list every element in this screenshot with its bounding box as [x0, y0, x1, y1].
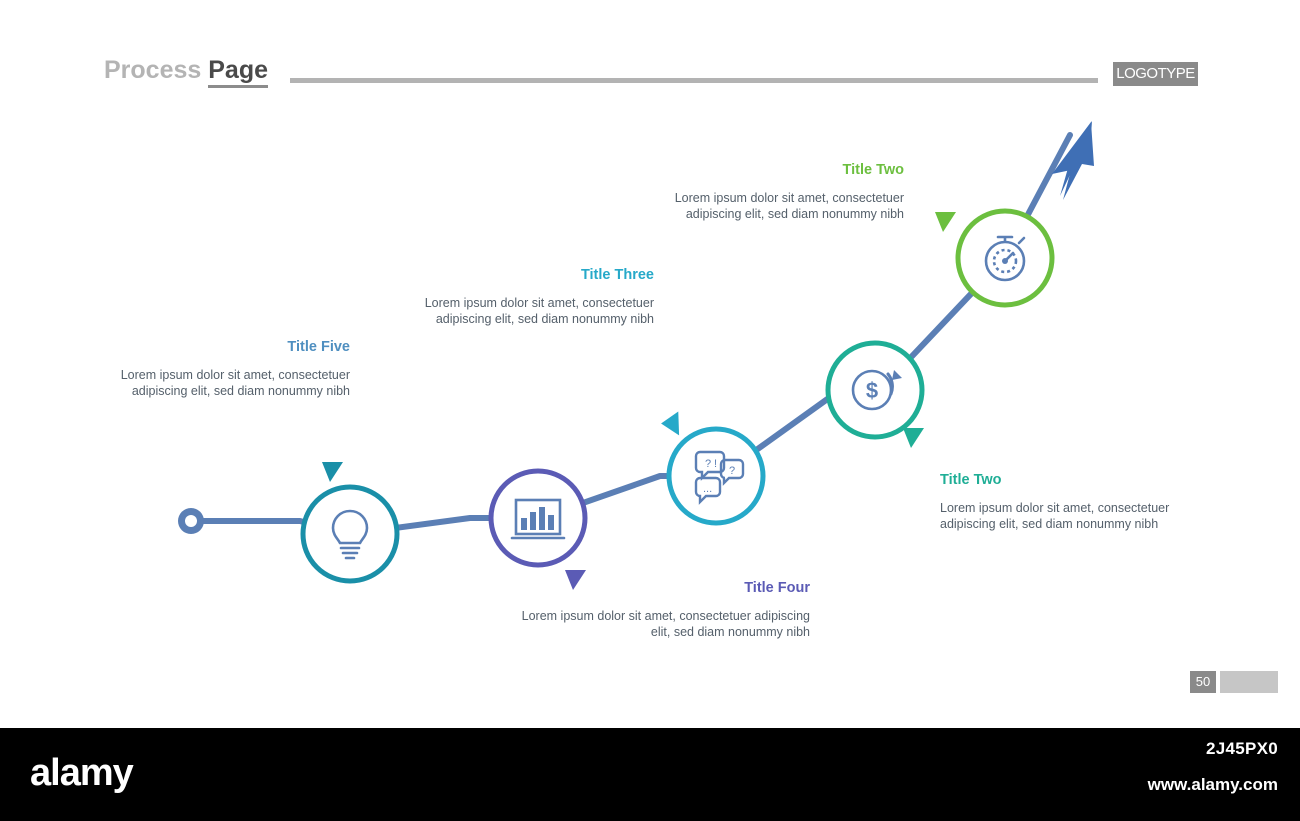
step-text-4: Title Two Lorem ipsum dolor sit amet, co… [940, 473, 1190, 544]
page-number-badge: 50 [1190, 671, 1216, 693]
footer-bar [1220, 671, 1278, 693]
start-dot [178, 508, 204, 534]
step-node-1[interactable] [303, 462, 397, 581]
svg-text:$: $ [866, 378, 878, 403]
step-title-5: Title Two [660, 163, 904, 179]
watermark-bar [0, 728, 1300, 821]
step-node-5[interactable] [935, 211, 1052, 305]
step-text-3: Title Three Lorem ipsum dolor sit amet, … [400, 268, 654, 339]
step-title-1: Title Five [104, 340, 350, 356]
step-text-2: Title Four Lorem ipsum dolor sit amet, c… [520, 581, 810, 652]
svg-text:...: ... [703, 483, 712, 495]
alamy-logo: alamy [30, 752, 133, 795]
alamy-url: www.alamy.com [1148, 775, 1278, 795]
step-body-5: Lorem ipsum dolor sit amet, consectetuer… [660, 191, 904, 222]
svg-text:?: ? [705, 458, 711, 470]
step-title-4: Title Two [940, 473, 1190, 489]
svg-text:?: ? [729, 465, 735, 477]
step-title-3: Title Three [400, 268, 654, 284]
step-body-3: Lorem ipsum dolor sit amet, consectetuer… [400, 296, 654, 327]
step-body-2: Lorem ipsum dolor sit amet, consectetuer… [520, 609, 810, 640]
step-text-5: Title Two Lorem ipsum dolor sit amet, co… [660, 163, 904, 234]
step-node-2[interactable] [491, 471, 586, 590]
step-body-4: Lorem ipsum dolor sit amet, consectetuer… [940, 501, 1190, 532]
step-text-1: Title Five Lorem ipsum dolor sit amet, c… [104, 340, 350, 411]
step-body-1: Lorem ipsum dolor sit amet, consectetuer… [104, 368, 350, 399]
step-node-4[interactable]: $ [828, 343, 924, 448]
svg-text:!: ! [714, 458, 717, 470]
alamy-image-id: 2J45PX0 [1206, 739, 1278, 759]
step-node-3[interactable]: ? ! ? ... [661, 411, 763, 523]
slide-canvas: Process Page LOGOTYPE [0, 0, 1300, 728]
step-title-2: Title Four [520, 581, 810, 597]
